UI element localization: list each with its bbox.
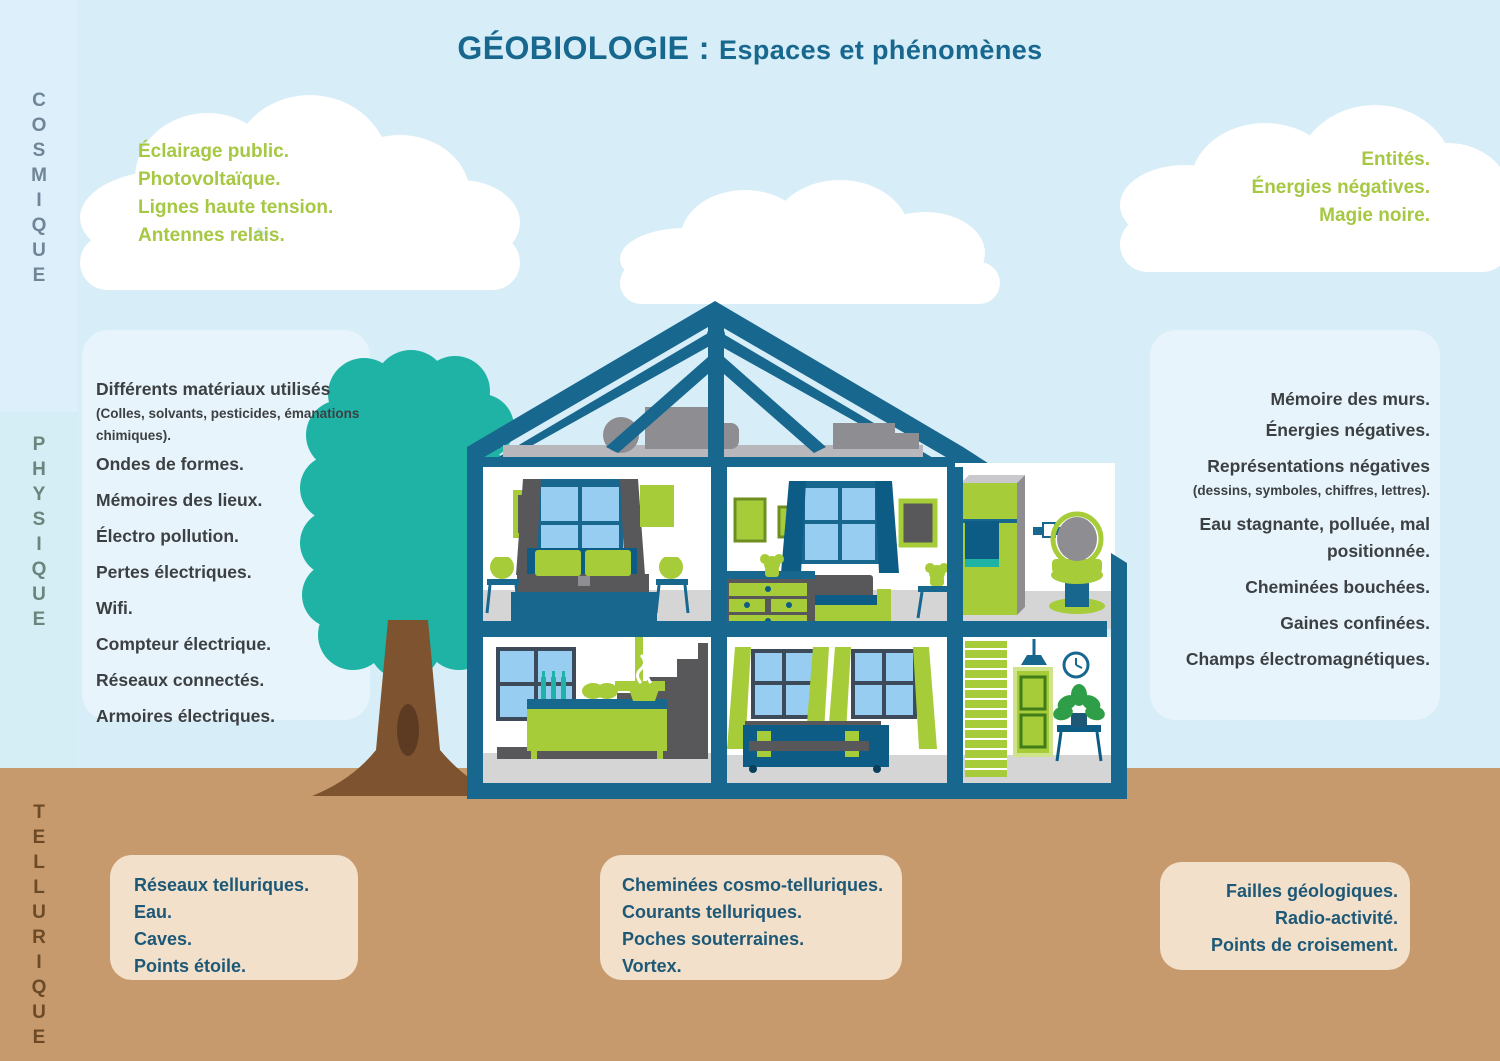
- tellurique-letter-6: I: [0, 950, 78, 975]
- page-title-sub: Espaces et phénomènes: [719, 35, 1043, 65]
- vertical-label-physique: PHYSIQUE: [0, 432, 78, 632]
- cosmique-letter-3: M: [0, 163, 78, 188]
- physique-left-item: Pertes électriques.: [96, 559, 362, 586]
- physique-letter-7: E: [0, 607, 78, 632]
- physique-letter-3: S: [0, 507, 78, 532]
- physique-right-item: Eau stagnante, polluée, mal positionnée.: [1160, 511, 1430, 565]
- physique-right-item-note: (dessins, symboles, chiffres, lettres).: [1160, 480, 1430, 502]
- physique-right-item: Champs électromagnétiques.: [1160, 646, 1430, 673]
- infographic-canvas: GÉOBIOLOGIE : Espaces et phénomènes COSM…: [0, 0, 1500, 1061]
- tellurique-center-item: Vortex.: [622, 953, 892, 980]
- cosmique-letter-5: Q: [0, 213, 78, 238]
- cosmique-letter-4: I: [0, 188, 78, 213]
- physique-left-item: Compteur électrique.: [96, 631, 362, 658]
- physique-right-list: Mémoire des murs.Énergies négatives.Repr…: [1160, 386, 1430, 682]
- physique-right-item-label: Eau stagnante, polluée, mal positionnée.: [1160, 511, 1430, 565]
- cosmique-left-item: Lignes haute tension.: [138, 194, 438, 222]
- tellurique-letter-8: U: [0, 1000, 78, 1025]
- physique-left-list: Différents matériaux utilisés(Colles, so…: [96, 376, 362, 739]
- page-title-main: GÉOBIOLOGIE :: [457, 30, 719, 66]
- cosmique-right-item: Magie noire.: [1130, 202, 1430, 230]
- cosmique-letter-2: S: [0, 138, 78, 163]
- tellurique-right-item: Failles géologiques.: [1172, 878, 1398, 905]
- cosmique-left-item: Photovoltaïque.: [138, 166, 438, 194]
- physique-letter-5: Q: [0, 557, 78, 582]
- physique-left-item-label: Pertes électriques.: [96, 559, 362, 586]
- physique-letter-0: P: [0, 432, 78, 457]
- tellurique-left-item: Réseaux telluriques.: [134, 872, 344, 899]
- cosmique-right-item: Énergies négatives.: [1130, 174, 1430, 202]
- cutaway-house: [455, 295, 1135, 800]
- physique-right-item: Mémoire des murs.: [1160, 386, 1430, 413]
- physique-left-item-note: (Colles, solvants, pesticides, émanation…: [96, 403, 362, 447]
- physique-left-item-label: Armoires électriques.: [96, 703, 362, 730]
- tellurique-left-list: Réseaux telluriques.Eau.Caves.Points éto…: [134, 872, 344, 980]
- vertical-label-cosmique: COSMIQUE: [0, 88, 78, 288]
- physique-right-item: Énergies négatives.: [1160, 417, 1430, 444]
- physique-left-item-label: Réseaux connectés.: [96, 667, 362, 694]
- tellurique-center-list: Cheminées cosmo-telluriques.Courants tel…: [622, 872, 892, 980]
- physique-left-item: Différents matériaux utilisés(Colles, so…: [96, 376, 362, 447]
- tellurique-center-item: Cheminées cosmo-telluriques.: [622, 872, 892, 899]
- physique-right-item-label: Gaines confinées.: [1160, 610, 1430, 637]
- cosmique-letter-7: E: [0, 263, 78, 288]
- physique-left-item: Électro pollution.: [96, 523, 362, 550]
- tellurique-left-item: Caves.: [134, 926, 344, 953]
- physique-right-item-label: Représentations négatives: [1160, 453, 1430, 480]
- physique-right-item: Gaines confinées.: [1160, 610, 1430, 637]
- physique-right-item: Cheminées bouchées.: [1160, 574, 1430, 601]
- physique-right-item-label: Cheminées bouchées.: [1160, 574, 1430, 601]
- physique-left-item-label: Ondes de formes.: [96, 451, 362, 478]
- physique-left-item: Réseaux connectés.: [96, 667, 362, 694]
- tellurique-letter-7: Q: [0, 975, 78, 1000]
- tellurique-center-item: Poches souterraines.: [622, 926, 892, 953]
- physique-left-item-label: Électro pollution.: [96, 523, 362, 550]
- tellurique-center-item: Courants telluriques.: [622, 899, 892, 926]
- physique-left-item-label: Compteur électrique.: [96, 631, 362, 658]
- physique-left-item: Armoires électriques.: [96, 703, 362, 730]
- tellurique-letter-9: E: [0, 1025, 78, 1050]
- cosmique-left-list: Éclairage public.Photovoltaïque.Lignes h…: [138, 138, 438, 250]
- tellurique-letter-3: L: [0, 875, 78, 900]
- page-title: GÉOBIOLOGIE : Espaces et phénomènes: [0, 30, 1500, 67]
- cosmique-right-item: Entités.: [1130, 146, 1430, 174]
- physique-left-item: Ondes de formes.: [96, 451, 362, 478]
- tellurique-left-item: Points étoile.: [134, 953, 344, 980]
- tellurique-letter-2: L: [0, 850, 78, 875]
- tellurique-letter-4: U: [0, 900, 78, 925]
- tellurique-left-item: Eau.: [134, 899, 344, 926]
- cosmique-right-list: Entités.Énergies négatives.Magie noire.: [1130, 146, 1430, 230]
- physique-left-item-label: Mémoires des lieux.: [96, 487, 362, 514]
- physique-left-item-label: Wifi.: [96, 595, 362, 622]
- physique-left-item: Wifi.: [96, 595, 362, 622]
- physique-right-item: Représentations négatives(dessins, symbo…: [1160, 453, 1430, 502]
- tellurique-letter-0: T: [0, 800, 78, 825]
- tellurique-right-list: Failles géologiques.Radio-activité.Point…: [1172, 878, 1398, 959]
- physique-left-item: Mémoires des lieux.: [96, 487, 362, 514]
- cosmique-letter-6: U: [0, 238, 78, 263]
- physique-letter-6: U: [0, 582, 78, 607]
- cosmique-letter-1: O: [0, 113, 78, 138]
- tellurique-right-item: Radio-activité.: [1172, 905, 1398, 932]
- physique-right-item-label: Mémoire des murs.: [1160, 386, 1430, 413]
- cosmique-left-item: Antennes relais.: [138, 222, 438, 250]
- vertical-label-tellurique: TELLURIQUE: [0, 800, 78, 1050]
- cosmique-left-item: Éclairage public.: [138, 138, 438, 166]
- physique-right-item-label: Champs électromagnétiques.: [1160, 646, 1430, 673]
- tellurique-letter-5: R: [0, 925, 78, 950]
- physique-letter-2: Y: [0, 482, 78, 507]
- cosmique-letter-0: C: [0, 88, 78, 113]
- physique-right-item-label: Énergies négatives.: [1160, 417, 1430, 444]
- physique-left-item-label: Différents matériaux utilisés: [96, 376, 362, 403]
- tellurique-right-item: Points de croisement.: [1172, 932, 1398, 959]
- physique-letter-1: H: [0, 457, 78, 482]
- physique-letter-4: I: [0, 532, 78, 557]
- tellurique-letter-1: E: [0, 825, 78, 850]
